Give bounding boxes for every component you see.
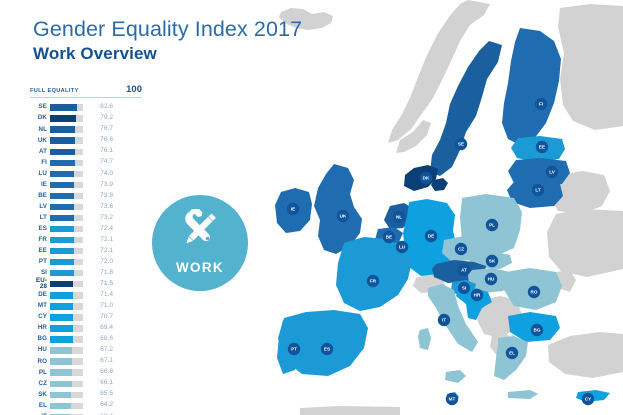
ranking-row-value: 71.4 (83, 292, 113, 299)
ranking-row-track (50, 126, 83, 132)
map-marker-ee: EE (536, 141, 548, 153)
marker-label: FR (370, 279, 377, 284)
ranking-row: AT76.1 (30, 146, 142, 157)
map-marker-bg: BG (531, 324, 543, 336)
ranking-row-value: 73.6 (83, 204, 113, 211)
ranking-row-track (50, 259, 83, 265)
country-russia-west (558, 4, 623, 130)
ranking-row-bar (50, 160, 75, 166)
ranking-row-value: 67.1 (83, 358, 113, 365)
ranking-row-value: 73.9 (83, 182, 113, 189)
map-marker-cz: CZ (455, 243, 467, 255)
ranking-row: DK79.2 (30, 113, 142, 124)
country-north-africa (300, 406, 400, 415)
ranking-row-code: SK (30, 392, 50, 398)
ranking-row-track (50, 336, 83, 342)
ranking-row: SK65.5 (30, 389, 142, 400)
ranking-row: CY70.7 (30, 312, 142, 323)
ranking-row-value: 73.8 (83, 193, 113, 200)
ranking-row-track (50, 381, 83, 387)
marker-label: SE (458, 142, 464, 147)
ranking-row-track (50, 215, 83, 221)
ranking-row-track (50, 193, 83, 199)
map-marker-el: EL (506, 347, 518, 359)
ranking-row-value: 69.4 (83, 325, 113, 332)
marker-label: LU (399, 245, 406, 250)
map-marker-fi: FI (535, 98, 547, 110)
ranking-row-bar (50, 248, 74, 254)
ranking-row-bar (50, 171, 74, 177)
ranking-row-track (50, 292, 83, 298)
ranking-row-bar (50, 358, 72, 364)
ranking-row-bar (50, 115, 76, 121)
ranking-row-code: AT (30, 149, 50, 155)
ranking-row: UK76.6 (30, 135, 142, 146)
marker-label: UK (340, 214, 347, 219)
ranking-row-value: 67.2 (83, 347, 113, 354)
ranking-row-value: 71.0 (83, 303, 113, 310)
marker-label: DE (428, 234, 434, 239)
ranking-row-value: 76.1 (83, 148, 113, 155)
ranking-row-track (50, 182, 83, 188)
full-equality-label: FULL EQUALITY (30, 88, 116, 94)
marker-label: IE (291, 207, 295, 212)
ranking-row-bar (50, 126, 75, 132)
ranking-row-value: 73.2 (83, 215, 113, 222)
ranking-row-track (50, 248, 83, 254)
marker-label: BE (386, 235, 392, 240)
ranking-row-code: HU (30, 347, 50, 353)
marker-label: RO (531, 290, 538, 295)
ranking-row-track (50, 137, 83, 143)
ranking-row: NL76.7 (30, 124, 142, 135)
marker-label: SI (462, 286, 466, 291)
ranking-row-bar (50, 182, 74, 188)
marker-label: PT (291, 347, 297, 352)
map-marker-at: AT (458, 264, 470, 276)
ranking-row-track (50, 160, 83, 166)
marker-label: CZ (458, 247, 464, 252)
ranking-row-code: RO (30, 359, 50, 365)
ranking-row-value: 66.8 (83, 369, 113, 376)
ranking-row-bar (50, 204, 74, 210)
map-marker-mt: MT (446, 393, 458, 405)
ranking-row-track (50, 270, 83, 276)
ranking-row-bar (50, 314, 73, 320)
marker-label: HR (474, 293, 481, 298)
country-ukraine (547, 209, 623, 277)
ranking-row-code: LU (30, 171, 50, 177)
ranking-row-track (50, 115, 83, 121)
marker-label: CY (585, 397, 591, 402)
ranking-row-track (50, 171, 83, 177)
infographic-page: SEFIEELVLTDKIEUKNLBELUDEPLCZSKATHUSIHRRO… (0, 0, 623, 415)
ranking-row-bar (50, 303, 73, 309)
ranking-row: PL66.8 (30, 367, 142, 378)
ranking-row: RO67.1 (30, 356, 142, 367)
ranking-row: IE73.9 (30, 179, 142, 190)
marker-label: FI (539, 102, 543, 107)
map-marker-lv: LV (546, 166, 558, 178)
marker-label: ES (324, 347, 330, 352)
ranking-row-value: 64.2 (83, 402, 113, 409)
ranking-row-bar (50, 292, 73, 298)
ranking-row-value: 74.0 (83, 171, 113, 178)
ranking-row-code: CY (30, 314, 50, 320)
map-marker-sk: SK (486, 255, 498, 267)
ranking-row-track (50, 369, 83, 375)
map-marker-nl: NL (393, 211, 405, 223)
map-marker-se: SE (455, 138, 467, 150)
ranking-row-code: EU-28 (30, 278, 50, 290)
map-marker-es: ES (321, 343, 333, 355)
ranking-row-code: FI (30, 160, 50, 166)
ranking-row-value: 76.7 (83, 126, 113, 133)
ranking-row-code: IE (30, 182, 50, 188)
ranking-row: FI74.7 (30, 157, 142, 168)
ranking-row-code: ES (30, 226, 50, 232)
marker-label: EL (509, 351, 515, 356)
ranking-row-bar (50, 347, 72, 353)
map-marker-cy: CY (582, 393, 594, 405)
ranking-row-bar (50, 336, 73, 342)
ranking-row-track (50, 104, 83, 110)
marker-label: NL (396, 215, 402, 220)
ranking-row-track (50, 237, 83, 243)
marker-label: LT (535, 188, 540, 193)
ranking-row-code: SI (30, 270, 50, 276)
ranking-row-bar (50, 137, 75, 143)
map-marker-hu: HU (485, 273, 497, 285)
ranking-row-value: 79.2 (83, 115, 113, 122)
ranking-row: LU74.0 (30, 168, 142, 179)
ranking-row-bar (50, 403, 71, 409)
ranking-row-value: 72.1 (83, 237, 113, 244)
ranking-row-code: LT (30, 215, 50, 221)
ranking-row-code: BG (30, 336, 50, 342)
work-label: WORK (176, 260, 224, 275)
ranking-row-value: 74.7 (83, 159, 113, 166)
ranking-row: HR69.4 (30, 323, 142, 334)
map-marker-ro: RO (528, 286, 540, 298)
ranking-row-value: 72.4 (83, 226, 113, 233)
ranking-row-track (50, 303, 83, 309)
ranking-row-value: 72.1 (83, 248, 113, 255)
ranking-row-value: 70.7 (83, 314, 113, 321)
ranking-row: BE73.8 (30, 190, 142, 201)
ranking-row-code: PL (30, 370, 50, 376)
ranking-row-bar (50, 392, 71, 398)
country-ranking-panel: FULL EQUALITY 100 SE82.6DK79.2NL76.7UK76… (30, 84, 142, 415)
marker-label: HU (488, 277, 495, 282)
ranking-row: EE72.1 (30, 246, 142, 257)
full-equality-value: 100 (116, 84, 142, 95)
ranking-row: IT62.4 (30, 411, 142, 415)
map-marker-hr: HR (471, 289, 483, 301)
title-block: Gender Equality Index 2017 Work Overview (33, 18, 302, 64)
ranking-row-value: 65.5 (83, 391, 113, 398)
ranking-row-code: EE (30, 248, 50, 254)
page-title: Gender Equality Index 2017 (33, 18, 302, 41)
marker-label: AT (461, 268, 467, 273)
ranking-row-bar (50, 381, 72, 387)
marker-label: BG (534, 328, 541, 333)
ranking-row-bar (50, 193, 74, 199)
ranking-row-code: UK (30, 138, 50, 144)
ranking-row: SE82.6 (30, 102, 142, 113)
ranking-row-track (50, 226, 83, 232)
ranking-row-bar (50, 281, 73, 287)
marker-label: MT (449, 397, 456, 402)
map-marker-fr: FR (367, 275, 379, 287)
ranking-row-code: HR (30, 325, 50, 331)
ranking-row-value: 82.6 (83, 104, 113, 111)
ranking-row-code: EL (30, 403, 50, 409)
ranking-row: LV73.6 (30, 201, 142, 212)
ranking-row-bar (50, 104, 77, 110)
ranking-row-bar (50, 325, 73, 331)
map-marker-si: SI (458, 282, 470, 294)
ranking-row-track (50, 325, 83, 331)
map-marker-it: IT (438, 314, 450, 326)
ranking-row-track (50, 392, 83, 398)
map-marker-be: BE (383, 231, 395, 243)
map-marker-ie: IE (287, 203, 299, 215)
ranking-row-value: 68.6 (83, 336, 113, 343)
ranking-row-code: LV (30, 204, 50, 210)
ranking-row-bar (50, 369, 72, 375)
ranking-row-code: PT (30, 259, 50, 265)
ranking-row-value: 72.0 (83, 259, 113, 266)
ranking-row-code: CZ (30, 381, 50, 387)
map-marker-pl: PL (486, 219, 498, 231)
page-subtitle: Work Overview (33, 44, 302, 64)
ranking-row-code: NL (30, 127, 50, 133)
ranking-row-bar (50, 270, 74, 276)
ranking-row: LT73.2 (30, 212, 142, 223)
ranking-row-bar (50, 237, 74, 243)
map-marker-dk: DK (420, 172, 432, 184)
ranking-row-code: SE (30, 104, 50, 110)
ranking-row-track (50, 204, 83, 210)
ranking-row-track (50, 281, 83, 287)
marker-label: LV (549, 170, 555, 175)
full-equality-header: FULL EQUALITY 100 (30, 84, 142, 98)
ranking-row: MT71.0 (30, 301, 142, 312)
ranking-row-code: DE (30, 292, 50, 298)
ranking-row: HU67.2 (30, 345, 142, 356)
marker-label: IT (442, 318, 446, 323)
ranking-row-value: 71.5 (83, 281, 113, 288)
ranking-row: PT72.0 (30, 257, 142, 268)
marker-label: DK (423, 176, 430, 181)
map-marker-pt: PT (288, 343, 300, 355)
ranking-row-track (50, 347, 83, 353)
ranking-row-bar (50, 226, 74, 232)
ranking-row-bar (50, 259, 74, 265)
ranking-row: DE71.4 (30, 290, 142, 301)
ranking-row: EU-2871.5 (30, 279, 142, 290)
ranking-row-bar (50, 149, 75, 155)
map-marker-lt: LT (532, 184, 544, 196)
ranking-row-track (50, 149, 83, 155)
ranking-row-value: 66.1 (83, 380, 113, 387)
ranking-row: FR72.1 (30, 235, 142, 246)
map-marker-uk: UK (337, 210, 349, 222)
work-domain-badge: WORK (152, 195, 248, 291)
map-marker-lu: LU (396, 241, 408, 253)
ranking-row: BG68.6 (30, 334, 142, 345)
marker-label: EE (539, 145, 545, 150)
ranking-rows: SE82.6DK79.2NL76.7UK76.6AT76.1FI74.7LU74… (30, 102, 142, 415)
ranking-row: EL64.2 (30, 400, 142, 411)
marker-label: PL (489, 223, 495, 228)
wrench-pencil-icon (178, 209, 222, 254)
ranking-row-code: BE (30, 193, 50, 199)
ranking-row-code: MT (30, 303, 50, 309)
ranking-row-track (50, 314, 83, 320)
ranking-row-code: DK (30, 115, 50, 121)
ranking-row: ES72.4 (30, 224, 142, 235)
marker-label: SK (489, 259, 496, 264)
ranking-row-track (50, 403, 83, 409)
ranking-row: CZ66.1 (30, 378, 142, 389)
ranking-row-track (50, 358, 83, 364)
map-marker-de: DE (425, 230, 437, 242)
ranking-row-value: 71.8 (83, 270, 113, 277)
ranking-row-bar (50, 215, 74, 221)
ranking-row-value: 76.6 (83, 137, 113, 144)
ranking-row-code: FR (30, 237, 50, 243)
